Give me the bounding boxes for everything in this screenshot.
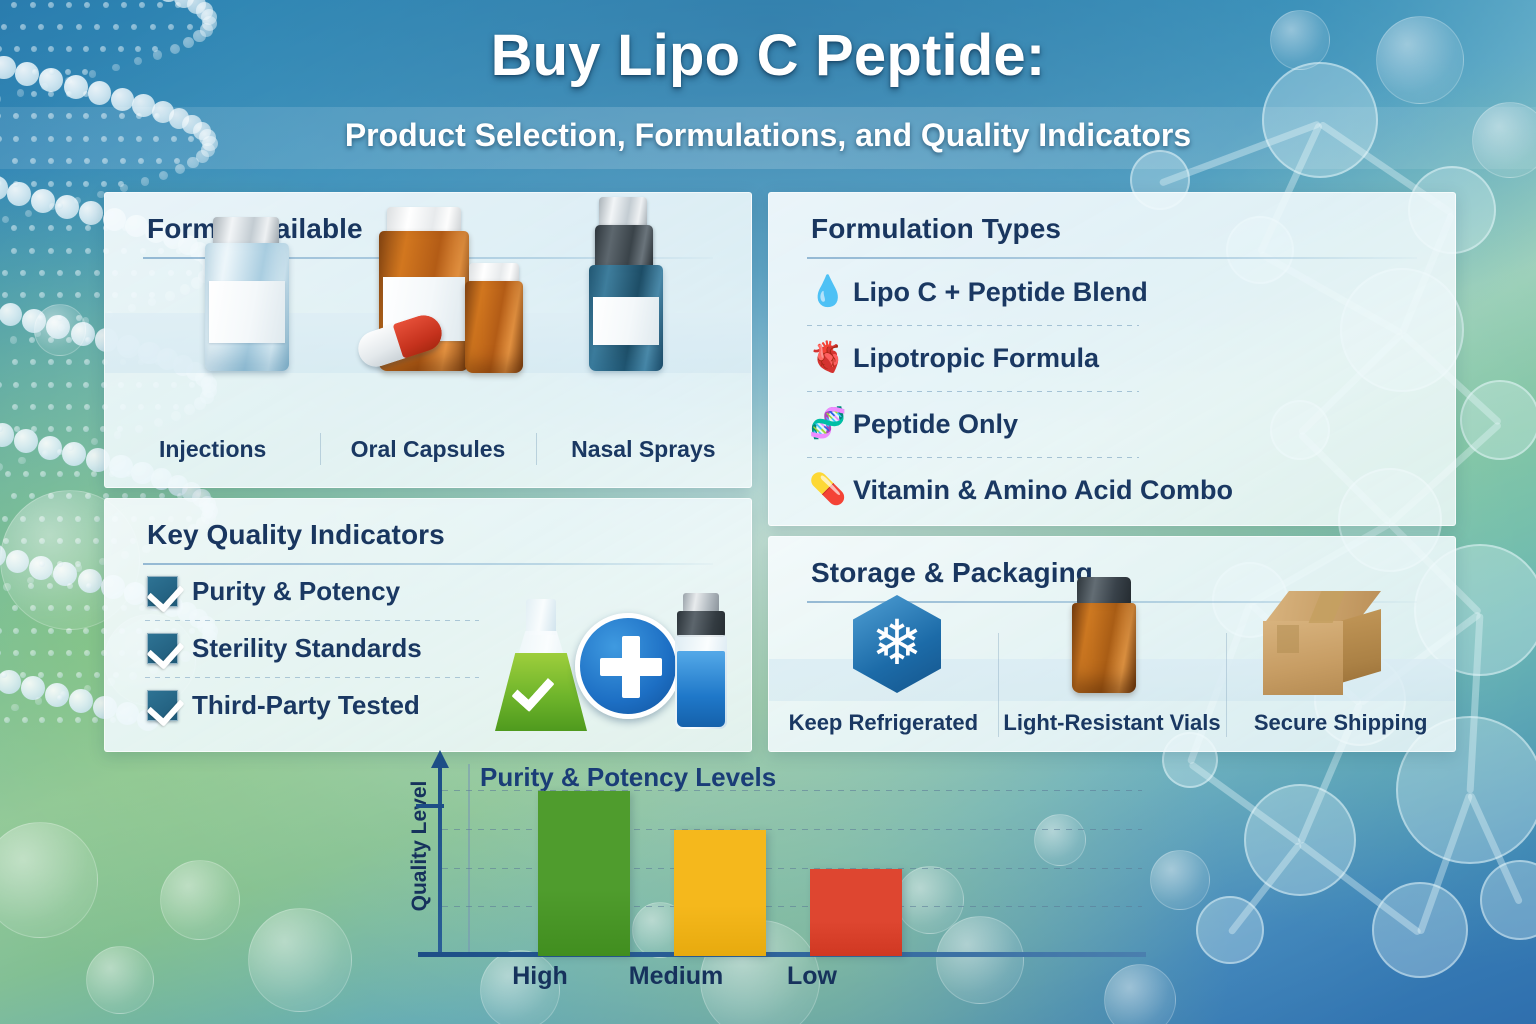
amber-vial-icon: [1069, 577, 1139, 693]
medical-cross-badge-icon: [575, 613, 681, 719]
forms-label-nasal-sprays: Nasal Sprays: [536, 429, 751, 469]
chart-y-axis-arrow-icon: [431, 750, 449, 768]
chart-y-axis-label: Quality Level: [408, 766, 432, 926]
key-quality-indicators-card: Key Quality Indicators Purity & Potency …: [104, 498, 752, 752]
formulation-types-title: Formulation Types: [769, 193, 1455, 245]
list-item[interactable]: 🧬 Peptide Only: [769, 391, 1455, 457]
dna-icon: 🧬: [809, 409, 853, 439]
blue-vial-icon: [671, 593, 731, 729]
quality-illustration: [487, 565, 737, 735]
quality-label: Purity & Potency: [192, 576, 400, 607]
chart-bar: [810, 869, 902, 956]
chart-category-label: Medium: [616, 962, 736, 991]
checkbox-checked-icon[interactable]: [147, 690, 178, 721]
chart-bars: [526, 768, 1126, 956]
forms-label-oral-capsules: Oral Capsules: [320, 429, 535, 469]
formulation-label: Peptide Only: [853, 409, 1018, 440]
storage-label-keep-refrigerated: Keep Refrigerated: [769, 705, 998, 741]
quality-label: Sterility Standards: [192, 633, 422, 664]
storage-illustration: ❄ Keep Refrigerated Light-Resistant Vial…: [769, 597, 1455, 752]
forms-labels: Injections Oral Capsules Nasal Sprays: [105, 429, 751, 469]
spray-bottle-icon: [573, 197, 683, 373]
checkbox-checked-icon[interactable]: [147, 576, 178, 607]
list-item[interactable]: 💧 Lipo C + Peptide Blend: [769, 259, 1455, 325]
liver-icon: 🫀: [809, 343, 853, 373]
formulation-label: Lipotropic Formula: [853, 343, 1099, 374]
forms-label-injections: Injections: [105, 429, 320, 469]
page-title: Buy Lipo C Peptide:: [0, 22, 1536, 89]
formulation-label: Lipo C + Peptide Blend: [853, 277, 1148, 308]
forms-available-card: Forms Available Inject: [104, 192, 752, 488]
chart-bar: [674, 830, 766, 956]
chart-plot-area: [442, 778, 1142, 956]
chart-y-tick: [416, 804, 444, 808]
formulation-list: 💧 Lipo C + Peptide Blend 🫀 Lipotropic Fo…: [769, 259, 1455, 523]
droplet-icon: 💧: [809, 277, 853, 307]
checkbox-checked-icon[interactable]: [147, 633, 178, 664]
chart-bar: [538, 791, 630, 956]
storage-labels: Keep Refrigerated Light-Resistant Vials …: [769, 705, 1455, 741]
storage-label-secure-shipping: Secure Shipping: [1226, 705, 1455, 741]
quality-checklist: Purity & Potency Sterility Standards Thi…: [105, 563, 497, 734]
pills-icon: 💊: [809, 475, 853, 505]
page-subtitle: Product Selection, Formulations, and Qua…: [0, 117, 1536, 154]
forms-illustration: [105, 255, 751, 431]
snowflake-icon: ❄: [853, 595, 941, 693]
flask-with-check-icon: [495, 599, 587, 731]
quality-label: Third-Party Tested: [192, 690, 420, 721]
list-item[interactable]: Purity & Potency: [105, 563, 497, 620]
chart-category-label: High: [480, 962, 600, 991]
list-item[interactable]: 🫀 Lipotropic Formula: [769, 325, 1455, 391]
chart-category-label: Low: [752, 962, 872, 991]
list-item[interactable]: Sterility Standards: [105, 620, 497, 677]
list-item[interactable]: 💊 Vitamin & Amino Acid Combo: [769, 457, 1455, 523]
header: Buy Lipo C Peptide: Product Selection, F…: [0, 0, 1536, 178]
pill-bottle-capsule-icon: [357, 201, 537, 373]
storage-packaging-card: Storage & Packaging ❄ Keep Refrigerated …: [768, 536, 1456, 752]
storage-label-light-resistant-vials: Light-Resistant Vials: [998, 705, 1227, 741]
cardboard-box-icon: [1263, 591, 1381, 695]
list-item[interactable]: Third-Party Tested: [105, 677, 497, 734]
key-quality-indicators-title: Key Quality Indicators: [105, 499, 751, 551]
injection-vial-icon: [191, 213, 303, 373]
formulation-label: Vitamin & Amino Acid Combo: [853, 475, 1233, 506]
purity-potency-chart: Purity & Potency Levels Quality Level Hi…: [398, 756, 1158, 1004]
formulation-types-card: Formulation Types 💧 Lipo C + Peptide Ble…: [768, 192, 1456, 526]
chart-category-labels: HighMediumLow: [482, 962, 1082, 1002]
